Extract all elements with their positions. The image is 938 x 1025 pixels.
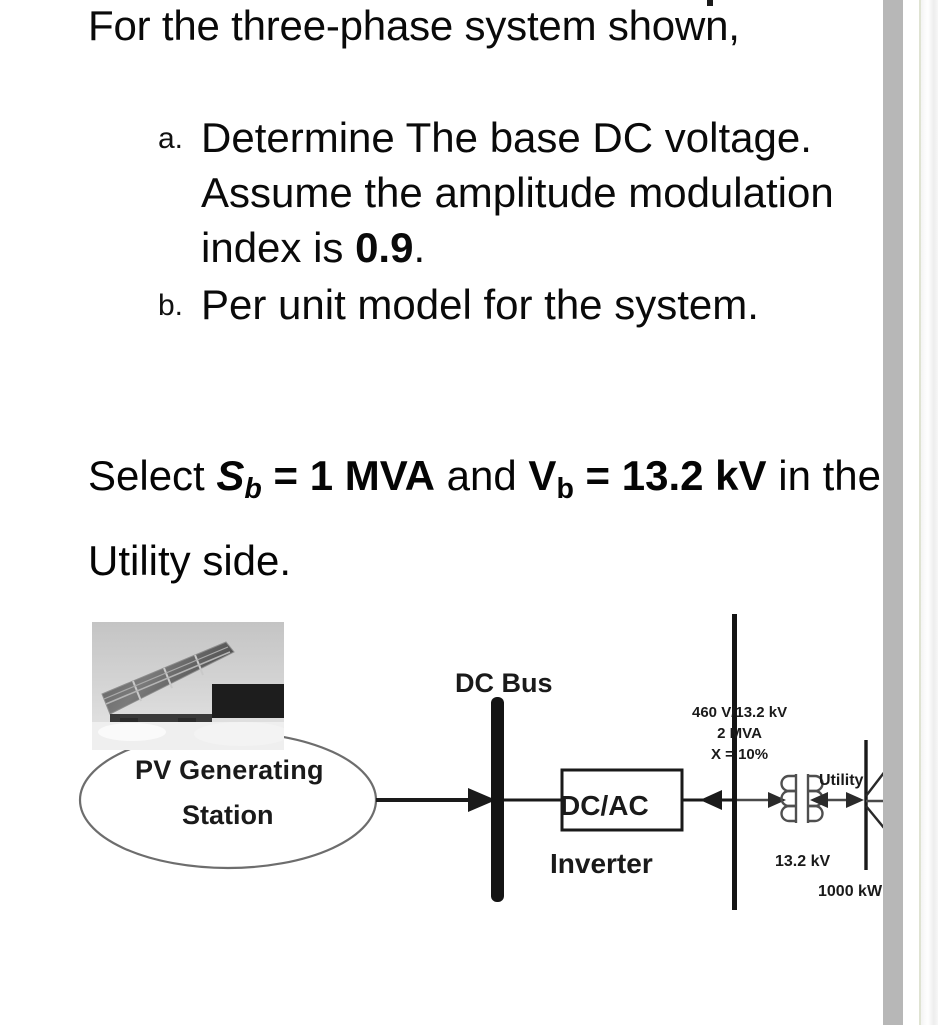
conjunction-and: and — [435, 452, 528, 499]
single-line-diagram: PV Generating Station DC Bus DC/AC Inver… — [60, 600, 883, 930]
utility-upper-diagonal — [866, 744, 883, 796]
utility-lower-diagonal — [866, 806, 883, 862]
base-power-symbol-letter: S — [216, 452, 244, 499]
problem-list: a.Determine The base DC voltage. Assume … — [88, 110, 878, 332]
list-item-a-text: Determine The base DC voltage. Assume th… — [201, 114, 834, 271]
inverter-caption: Inverter — [550, 848, 653, 880]
utility-voltage-label: 13.2 kV — [775, 853, 830, 871]
modulation-index-value: 0.9 — [355, 224, 413, 271]
pv-station-label-line2: Station — [182, 800, 274, 831]
utility-arrowhead — [846, 792, 864, 808]
transformer-rating-label: 460 V/13.2 kV 2 MVA X = 10% — [692, 702, 787, 765]
list-item-b-text: Per unit model for the system. — [201, 281, 759, 328]
equals-sign-2: = — [574, 452, 622, 499]
transformer-rating-voltage: 460 V/13.2 kV — [692, 702, 787, 723]
intro-paragraph: For the three-phase system shown, — [88, 0, 788, 53]
list-item: b.Per unit model for the system. — [88, 277, 878, 332]
list-marker-a: a. — [158, 116, 183, 162]
list-item-a-text-tail: . — [413, 224, 425, 271]
base-voltage-value: 13.2 kV — [622, 452, 767, 499]
solar-panel-photo — [92, 622, 284, 750]
dc-bus-bar — [491, 697, 504, 902]
base-power-symbol-subscript: b — [244, 473, 261, 505]
base-voltage-symbol-subscript: b — [556, 473, 573, 505]
load-label: 1000 kW — [818, 883, 882, 901]
select-bases-paragraph: Select Sb = 1 MVA and Vb = 13.2 kV in th… — [88, 440, 883, 597]
list-item: a.Determine The base DC voltage. Assume … — [88, 110, 878, 275]
acbus-to-inverter-arrowhead — [700, 790, 722, 810]
base-voltage-symbol-letter: V — [528, 452, 556, 499]
list-marker-b: b. — [158, 283, 183, 329]
utility-label: Utility — [819, 772, 863, 790]
equals-sign-1: = — [262, 452, 310, 499]
inverter-box-label: DC/AC — [560, 790, 649, 822]
pv-station-label-line1: PV Generating — [135, 755, 324, 786]
select-lead: Select — [88, 452, 216, 499]
scrollbar-thumb[interactable] — [883, 0, 903, 1025]
base-voltage-symbol: Vb — [528, 452, 573, 499]
dc-bus-label: DC Bus — [455, 668, 553, 699]
base-power-value: 1 MVA — [310, 452, 435, 499]
transformer-rating-power: 2 MVA — [692, 723, 787, 744]
next-page-preview — [921, 0, 938, 1025]
transformer-rating-reactance: X = 10% — [692, 744, 787, 765]
solar-panel-photo-graphic — [92, 622, 284, 750]
document-page: For the three-phase system shown, a.Dete… — [0, 0, 883, 1025]
base-power-symbol: Sb — [216, 452, 261, 499]
